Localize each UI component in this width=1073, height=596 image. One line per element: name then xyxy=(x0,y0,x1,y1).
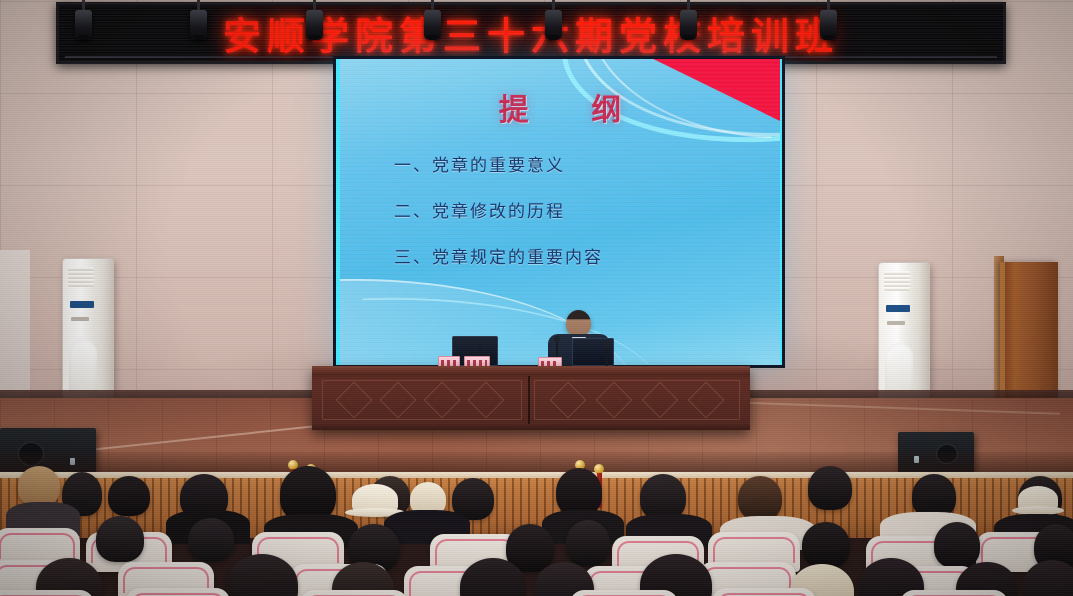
audience-hat xyxy=(1018,486,1058,512)
auditorium-photo: 安顺学院第三十六期党校培训班 提 纲 一、党章的重要意义 二、党章修改的历程 三… xyxy=(0,0,1073,596)
slide-outline-item-2: 二、党章修改的历程 xyxy=(394,197,760,222)
audience-head xyxy=(556,468,602,516)
air-conditioner-unit-left xyxy=(62,258,114,410)
microphone-icon xyxy=(606,346,608,366)
slide-outline-item-3: 三、党章规定的重要内容 xyxy=(394,243,760,268)
slide-outline-list: 一、党章的重要意义 二、党章修改的历程 三、党章规定的重要内容 xyxy=(394,151,760,289)
presenter-head xyxy=(566,310,591,337)
audience-hat xyxy=(352,484,398,514)
audience-head xyxy=(108,476,150,516)
audience-chair xyxy=(0,590,94,596)
stage-light-icon xyxy=(424,0,441,44)
stage-light-icon xyxy=(820,0,837,44)
audience-head xyxy=(18,466,60,506)
audience-chair xyxy=(126,588,230,596)
audience-chair xyxy=(712,588,816,596)
audience-head xyxy=(738,476,782,520)
audience-area xyxy=(0,462,1073,596)
audience-head xyxy=(934,522,980,568)
stage-light-icon xyxy=(75,0,92,44)
audience-head xyxy=(566,520,610,566)
stage-light-icon xyxy=(190,0,207,44)
audience-head xyxy=(808,466,852,510)
conference-table xyxy=(312,366,750,430)
stage-light-icon xyxy=(306,0,323,44)
stage-light-icon xyxy=(680,0,697,44)
slide-title: 提 纲 xyxy=(340,85,780,129)
audience-head xyxy=(802,522,850,568)
audience-chair xyxy=(300,590,408,596)
stage-light-icon xyxy=(545,0,562,44)
audience-chair xyxy=(570,590,678,596)
audience-head xyxy=(96,516,144,562)
audience-head xyxy=(188,518,234,562)
slide-outline-item-1: 一、党章的重要意义 xyxy=(394,151,760,176)
audience-chair xyxy=(900,590,1008,596)
